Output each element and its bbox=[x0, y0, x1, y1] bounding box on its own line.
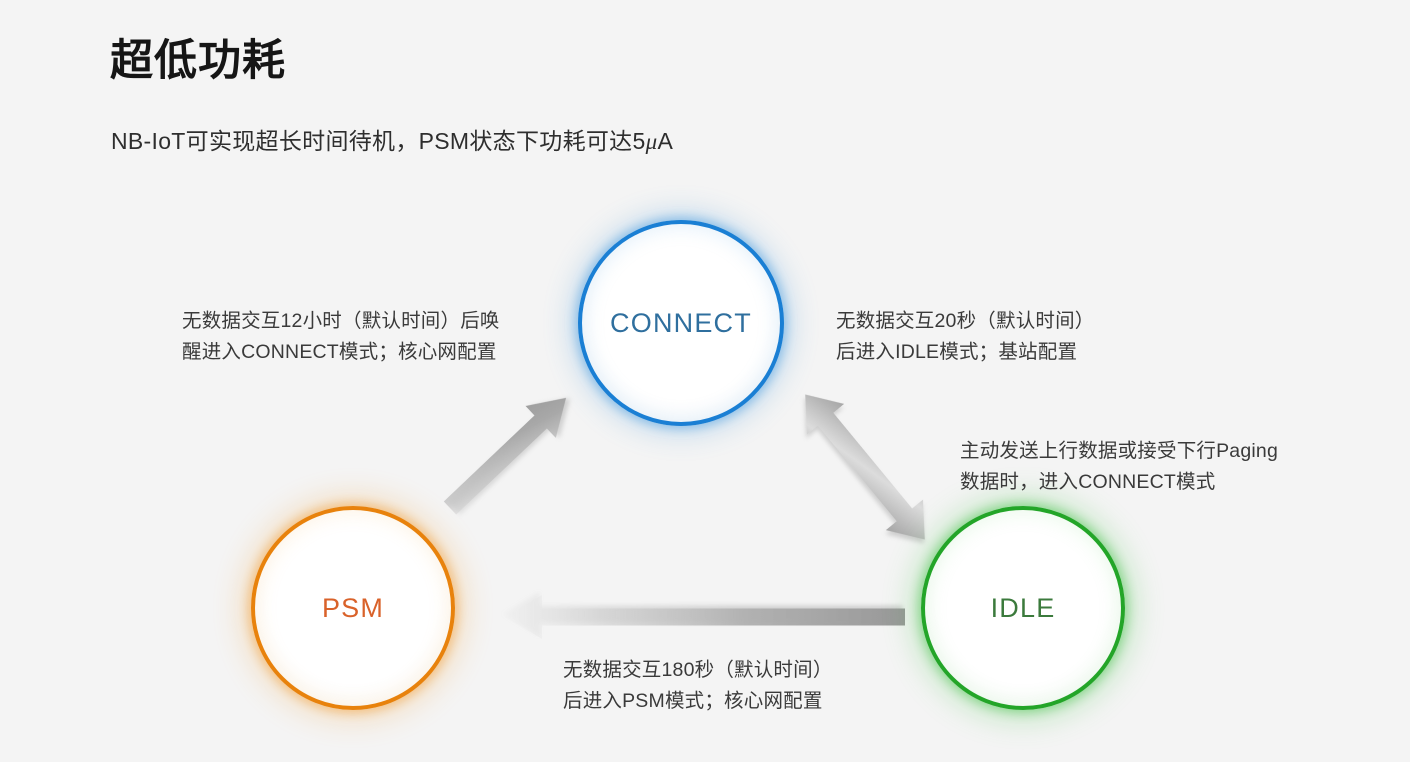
annotation-connect-to-idle-line1: 无数据交互20秒（默认时间） bbox=[836, 306, 1095, 337]
annotation-psm-to-connect: 无数据交互12小时（默认时间）后唤 醒进入CONNECT模式；核心网配置 bbox=[182, 306, 500, 368]
annotation-psm-to-connect-line2: 醒进入CONNECT模式；核心网配置 bbox=[182, 337, 500, 368]
state-node-idle-label: IDLE bbox=[991, 593, 1056, 624]
page-title: 超低功耗 bbox=[110, 36, 286, 88]
page-subtitle: NB-IoT可实现超长时间待机，PSM状态下功耗可达5μA bbox=[111, 122, 673, 156]
subtitle-pre: NB-IoT可实现超长时间待机，PSM状态下功耗可达5 bbox=[111, 128, 646, 154]
annotation-idle-to-psm-line1: 无数据交互180秒（默认时间） bbox=[563, 655, 833, 686]
arrow-idle-to-psm bbox=[505, 595, 905, 639]
annotation-psm-to-connect-line1: 无数据交互12小时（默认时间）后唤 bbox=[182, 306, 500, 337]
annotation-idle-to-psm: 无数据交互180秒（默认时间） 后进入PSM模式；核心网配置 bbox=[563, 655, 833, 717]
state-node-connect[interactable]: CONNECT bbox=[578, 220, 784, 426]
state-node-psm-label: PSM bbox=[322, 593, 384, 624]
annotation-idle-to-connect: 主动发送上行数据或接受下行Paging 数据时，进入CONNECT模式 bbox=[960, 436, 1278, 498]
arrow-connect-idle-double bbox=[787, 379, 944, 555]
annotation-idle-to-psm-line2: 后进入PSM模式；核心网配置 bbox=[563, 686, 833, 717]
state-node-idle[interactable]: IDLE bbox=[921, 506, 1125, 710]
annotation-idle-to-connect-line2: 数据时，进入CONNECT模式 bbox=[960, 467, 1278, 498]
state-node-connect-label: CONNECT bbox=[610, 308, 752, 339]
annotation-connect-to-idle: 无数据交互20秒（默认时间） 后进入IDLE模式；基站配置 bbox=[836, 306, 1095, 368]
diagram-canvas: 超低功耗 NB-IoT可实现超长时间待机，PSM状态下功耗可达5μA bbox=[0, 0, 1410, 762]
annotation-connect-to-idle-line2: 后进入IDLE模式；基站配置 bbox=[836, 337, 1095, 368]
state-node-psm[interactable]: PSM bbox=[251, 506, 455, 710]
subtitle-micro-symbol: μ bbox=[646, 129, 658, 154]
arrow-psm-to-connect bbox=[435, 382, 581, 524]
subtitle-post: A bbox=[657, 128, 673, 154]
annotation-idle-to-connect-line1: 主动发送上行数据或接受下行Paging bbox=[960, 436, 1278, 467]
